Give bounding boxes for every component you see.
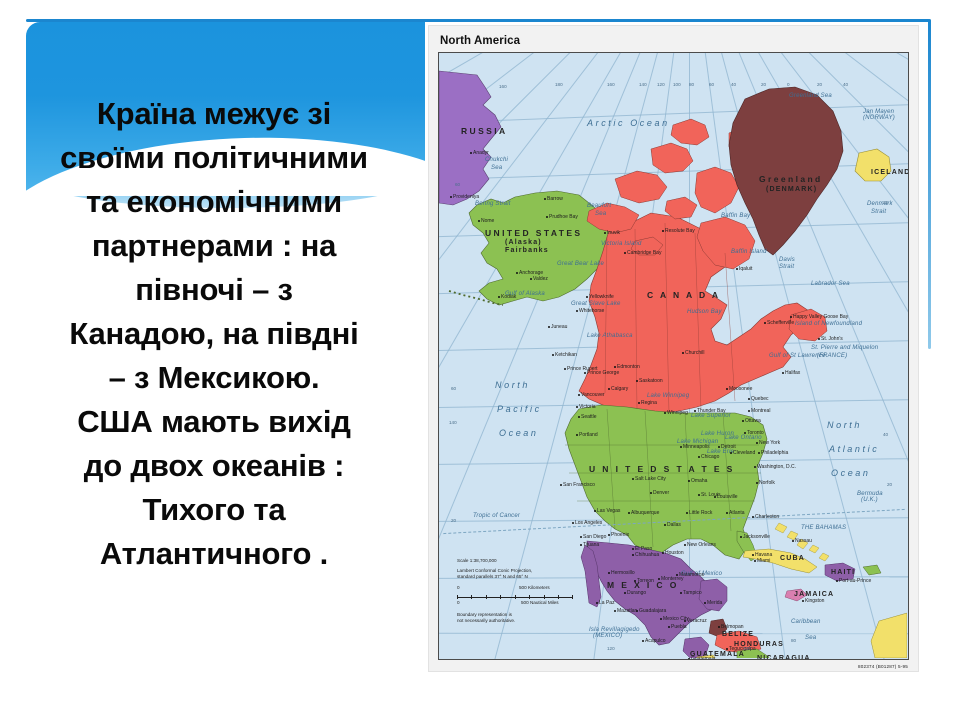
sea-label: Strait (871, 209, 886, 215)
longitude-label: 80 (689, 83, 694, 88)
city-marker (636, 380, 638, 382)
city-label: Merida (707, 601, 722, 606)
text-line: – з Мексикою. (10, 356, 418, 400)
city-marker (792, 540, 794, 542)
scale-km-label: 500 Kilometers (519, 585, 550, 592)
city-marker (608, 388, 610, 390)
city-label: Guatemala (691, 657, 715, 660)
region-iceland (855, 149, 891, 181)
city-marker (764, 322, 766, 324)
city-label: Quebec (751, 397, 769, 402)
country-label: BELIZE (722, 631, 754, 638)
country-label: ICELAND (871, 169, 909, 176)
city-marker (684, 620, 686, 622)
city-marker (608, 534, 610, 536)
city-label: Churchill (685, 351, 704, 356)
city-marker (682, 352, 684, 354)
city-marker (662, 230, 664, 232)
sea-label: (MEXICO) (593, 633, 622, 639)
city-marker (676, 574, 678, 576)
city-label: Regina (641, 401, 657, 406)
city-marker (572, 522, 574, 524)
city-marker (754, 466, 756, 468)
city-label: Thunder Bay (697, 409, 726, 414)
latitude-label: 140 (449, 421, 457, 426)
city-label: Chihuahua (635, 553, 659, 558)
city-label: Washington, D.C. (757, 465, 796, 470)
city-label: Halifax (785, 371, 800, 376)
longitude-label: 160 (499, 85, 507, 90)
sea-label: Sea (805, 635, 816, 641)
sea-label: St. Pierre and Miquelon (811, 345, 878, 351)
country-label: RUSSIA (461, 127, 508, 136)
city-marker (664, 524, 666, 526)
longitude-label: 0 (787, 83, 790, 88)
longitude-label: 40 (731, 83, 736, 88)
city-label: Guadalajara (639, 609, 666, 614)
sea-label: Sea (595, 211, 606, 217)
latitude-label: 100 (743, 647, 751, 652)
city-marker (680, 446, 682, 448)
city-label: Montreal (751, 409, 770, 414)
sea-label: Strait (779, 264, 794, 270)
longitude-label: 20 (817, 83, 822, 88)
city-marker (578, 416, 580, 418)
text-panel: Країна межує зі своїми політичними та ек… (0, 0, 428, 720)
city-marker (730, 452, 732, 454)
city-marker (594, 510, 596, 512)
city-label: Charleston (755, 515, 779, 520)
country-label: NICARAGUA (757, 655, 811, 660)
city-marker (686, 512, 688, 514)
city-label: Kodiak (501, 295, 516, 300)
map-reference-number: 802374 (B01287) 5-95 (858, 664, 908, 669)
sea-label: (NORWAY) (863, 115, 895, 121)
longitude-label: 60 (709, 83, 714, 88)
city-marker (748, 410, 750, 412)
sea-label: Victoria Island (601, 241, 642, 247)
sea-label: (FRANCE) (817, 353, 847, 359)
city-marker (698, 494, 700, 496)
city-marker (632, 478, 634, 480)
city-marker (664, 412, 666, 414)
city-label: Victoria (579, 405, 596, 410)
map-image-panel: North America (429, 26, 918, 671)
sea-label: Lake Winnipeg (647, 393, 689, 399)
city-marker (560, 484, 562, 486)
city-marker (726, 388, 728, 390)
city-marker (632, 548, 634, 550)
scale-nm-label: 500 Nautical Miles (521, 600, 559, 607)
city-label: Calgary (611, 387, 628, 392)
region-south-america (871, 613, 907, 658)
city-marker (790, 316, 792, 318)
longitude-label: 40 (843, 83, 848, 88)
city-label: Edmonton (617, 365, 640, 370)
city-marker (450, 196, 452, 198)
city-marker (608, 572, 610, 574)
city-label: Miami (757, 559, 770, 564)
city-marker (736, 268, 738, 270)
city-marker (580, 536, 582, 538)
ocean-label: Pacific (497, 405, 542, 414)
city-label: San Diego (583, 535, 606, 540)
city-label: Iqaluit (739, 267, 752, 272)
sea-label: Great Slave Lake (571, 301, 621, 307)
longitude-label: 20 (761, 83, 766, 88)
city-label: Little Rock (689, 511, 712, 516)
city-marker (614, 366, 616, 368)
city-marker (658, 578, 660, 580)
city-label: Acapulco (645, 639, 666, 644)
sea-label: Hudson Bay (687, 309, 722, 315)
city-marker (782, 372, 784, 374)
city-label: Puebla (671, 625, 687, 630)
ocean-label: Ocean (831, 469, 871, 478)
city-label: Ottawa (745, 419, 761, 424)
city-label: Portland (579, 433, 598, 438)
city-marker (758, 452, 760, 454)
city-marker (752, 516, 754, 518)
city-marker (688, 480, 690, 482)
city-label: Cambridge Bay (627, 251, 661, 256)
city-marker (576, 310, 578, 312)
city-label: Tijuana (583, 543, 599, 548)
city-marker (478, 220, 480, 222)
latitude-label: 20 (887, 483, 892, 488)
sea-label: Davis (779, 257, 795, 263)
city-marker (726, 512, 728, 514)
scale-nm-zero: 0 (457, 600, 460, 607)
city-label: Denver (653, 491, 669, 496)
city-label: Houston (665, 551, 684, 556)
city-marker (498, 296, 500, 298)
city-marker (516, 272, 518, 274)
city-label: Omaha (691, 479, 707, 484)
latitude-label: 80 (791, 639, 796, 644)
city-label: Seattle (581, 415, 597, 420)
frame-right-rule (928, 19, 931, 349)
scale-bar (457, 595, 607, 599)
country-label: (DENMARK) (766, 186, 817, 193)
city-label: Ketchikan (555, 353, 577, 358)
city-label: Torreon (637, 579, 654, 584)
latitude-label: 40 (883, 433, 888, 438)
ocean-label: North (827, 421, 862, 430)
city-label: Norfolk (759, 481, 775, 486)
city-marker (638, 402, 640, 404)
city-label: Louisville (717, 495, 738, 500)
country-label: CUBA (780, 555, 805, 562)
city-label: Vancouver (581, 393, 605, 398)
city-marker (818, 338, 820, 340)
city-label: Havana (755, 553, 772, 558)
region-puerto-rico (863, 565, 881, 575)
sea-label: Lake Athabasca (587, 333, 633, 339)
map-title: North America (440, 35, 520, 47)
city-label: Veracruz (687, 619, 707, 624)
city-label: Prince George (587, 371, 619, 376)
city-marker (642, 640, 644, 642)
city-label: Los Angeles (575, 521, 602, 526)
city-marker (698, 456, 700, 458)
city-marker (756, 482, 758, 484)
map-canvas: RUSSIAUNITED STATES(Alaska)FairbanksC A … (438, 52, 909, 660)
city-marker (684, 544, 686, 546)
city-marker (754, 560, 756, 562)
city-marker (614, 610, 616, 612)
city-marker (546, 216, 548, 218)
city-marker (756, 442, 758, 444)
city-marker (580, 544, 582, 546)
city-marker (688, 658, 690, 660)
city-marker (552, 354, 554, 356)
text-line: Країна межує зі (10, 92, 418, 136)
latitude-label: 20 (883, 201, 888, 206)
city-marker (744, 432, 746, 434)
city-marker (632, 554, 634, 556)
longitude-label: 100 (673, 83, 681, 88)
country-label: UNITED STATES (485, 229, 582, 238)
city-label: Toronto (747, 431, 764, 436)
city-label: Resolute Bay (665, 229, 695, 234)
city-label: Philadelphia (761, 451, 788, 456)
longitude-label: 160 (607, 83, 615, 88)
city-label: Prudhoe Bay (549, 215, 578, 220)
city-label: Albuquerque (631, 511, 659, 516)
ocean-label: Arctic Ocean (587, 119, 670, 128)
city-label: St. John's (821, 337, 843, 342)
sea-label: Baffin Bay (721, 213, 750, 219)
text-line: Тихого та (10, 488, 418, 532)
city-marker (704, 602, 706, 604)
city-marker (660, 618, 662, 620)
city-label: San Francisco (563, 483, 595, 488)
city-label: Juneau (551, 325, 567, 330)
city-marker (470, 152, 472, 154)
longitude-label: 120 (657, 83, 665, 88)
city-marker (694, 410, 696, 412)
country-label: JAMAICA (794, 591, 834, 598)
city-label: Durango (627, 591, 646, 596)
ocean-label: North (495, 381, 530, 390)
text-line: своїми політичними (10, 136, 418, 180)
city-label: Phoenix (611, 533, 629, 538)
city-label: New York (759, 441, 780, 446)
city-marker (636, 610, 638, 612)
latitude-label: 60 (451, 387, 456, 392)
city-label: Minneapolis (683, 445, 710, 450)
city-marker (634, 580, 636, 582)
sea-label: Tropic of Cancer (473, 513, 520, 519)
sea-label: Greenland Sea (789, 93, 832, 99)
city-label: Port-au-Prince (839, 579, 871, 584)
text-line: партнерами : на (10, 224, 418, 268)
text-line: півночі – з (10, 268, 418, 312)
country-label: U N I T E D S T A T E S (589, 465, 735, 474)
city-label: Nome (481, 219, 494, 224)
city-label: Winnipeg (667, 411, 688, 416)
city-marker (742, 420, 744, 422)
city-label: Nassau (795, 539, 812, 544)
text-line: Канадою, на півдні (10, 312, 418, 356)
scale-km-zero: 0 (457, 585, 460, 592)
city-marker (544, 198, 546, 200)
city-marker (586, 296, 588, 298)
city-label: Anadyr (473, 151, 489, 156)
city-label: Kingston (805, 599, 824, 604)
city-marker (564, 368, 566, 370)
latitude-label: 20 (451, 519, 456, 524)
disclaimer-line-2: not necessarily authoritative. (457, 618, 607, 625)
sea-label: THE BAHAMAS (801, 525, 846, 531)
city-label: Whitehorse (579, 309, 604, 314)
city-marker (548, 326, 550, 328)
city-label: New Orleans (687, 543, 716, 548)
ocean-label: Ocean (499, 429, 539, 438)
city-marker (628, 512, 630, 514)
city-label: Mazatlan (617, 609, 637, 614)
country-label: Greenland (759, 175, 823, 184)
city-label: Las Vegas (597, 509, 620, 514)
country-label: (Alaska) (505, 239, 542, 246)
city-label: Matamoros (679, 573, 704, 578)
sea-label: Beaufort (587, 203, 611, 209)
city-label: Happy Valley Goose Bay (793, 315, 848, 320)
city-marker (740, 536, 742, 538)
ocean-label: Atlantic (829, 445, 879, 454)
city-marker (530, 278, 532, 280)
city-marker (576, 406, 578, 408)
city-marker (668, 626, 670, 628)
city-marker (624, 252, 626, 254)
city-marker (836, 580, 838, 582)
longitude-label: 180 (555, 83, 563, 88)
city-label: Moosonee (729, 387, 752, 392)
latitude-label: 120 (607, 647, 615, 652)
sea-label: (U.K.) (861, 497, 878, 503)
longitude-label: 140 (639, 83, 647, 88)
sea-label: Great Bear Lake (557, 261, 604, 267)
sea-label: Baffin Island (731, 249, 767, 255)
slide-body-text: Країна межує зі своїми політичними та ек… (10, 92, 418, 576)
city-label: Barrow (547, 197, 563, 202)
city-marker (718, 626, 720, 628)
map-scale-block: Scale 1:38,700,000 Lambert Conformal Con… (457, 558, 607, 625)
city-marker (624, 592, 626, 594)
city-marker (752, 554, 754, 556)
city-marker (680, 592, 682, 594)
city-marker (604, 232, 606, 234)
city-marker (748, 398, 750, 400)
sea-label: Denmark (867, 201, 893, 207)
city-label: Cleveland (733, 451, 755, 456)
region-russia (439, 71, 501, 205)
country-label: C A N A D A (647, 291, 720, 300)
city-label: Yellowknife (589, 295, 614, 300)
sea-label: Chukchi (485, 157, 508, 163)
city-label: Dallas (667, 523, 681, 528)
city-label: Salt Lake City (635, 477, 666, 482)
city-label: Tampico (683, 591, 702, 596)
city-label: Saskatoon (639, 379, 663, 384)
country-label: Fairbanks (505, 247, 549, 254)
city-label: Jacksonville (743, 535, 770, 540)
city-marker (576, 434, 578, 436)
sea-label: Labrador Sea (811, 281, 850, 287)
city-label: Atlanta (729, 511, 745, 516)
city-marker (662, 552, 664, 554)
text-line: та економічними (10, 180, 418, 224)
text-line: до двох океанів : (10, 444, 418, 488)
sea-label: Caribbean (791, 619, 821, 625)
country-label: HAITI (831, 569, 855, 576)
city-marker (718, 446, 720, 448)
city-label: Provideniya (453, 195, 479, 200)
sea-label: Island of Newfoundland (795, 321, 862, 327)
sea-label: Bering Strait (475, 201, 511, 207)
city-marker (714, 496, 716, 498)
latitude-label: 60 (455, 183, 460, 188)
sea-label: Sea (491, 165, 502, 171)
city-label: Hermosillo (611, 571, 635, 576)
city-marker (584, 372, 586, 374)
city-label: Belmopan (721, 625, 744, 630)
text-line: США мають вихід (10, 400, 418, 444)
city-label: Valdez (533, 277, 548, 282)
city-label: Schefferville (767, 321, 794, 326)
city-label: Inuvik (607, 231, 620, 236)
city-marker (802, 600, 804, 602)
city-label: Chicago (701, 455, 719, 460)
city-marker (726, 648, 728, 650)
city-marker (650, 492, 652, 494)
text-line: Атлантичного . (10, 532, 418, 576)
city-marker (578, 394, 580, 396)
